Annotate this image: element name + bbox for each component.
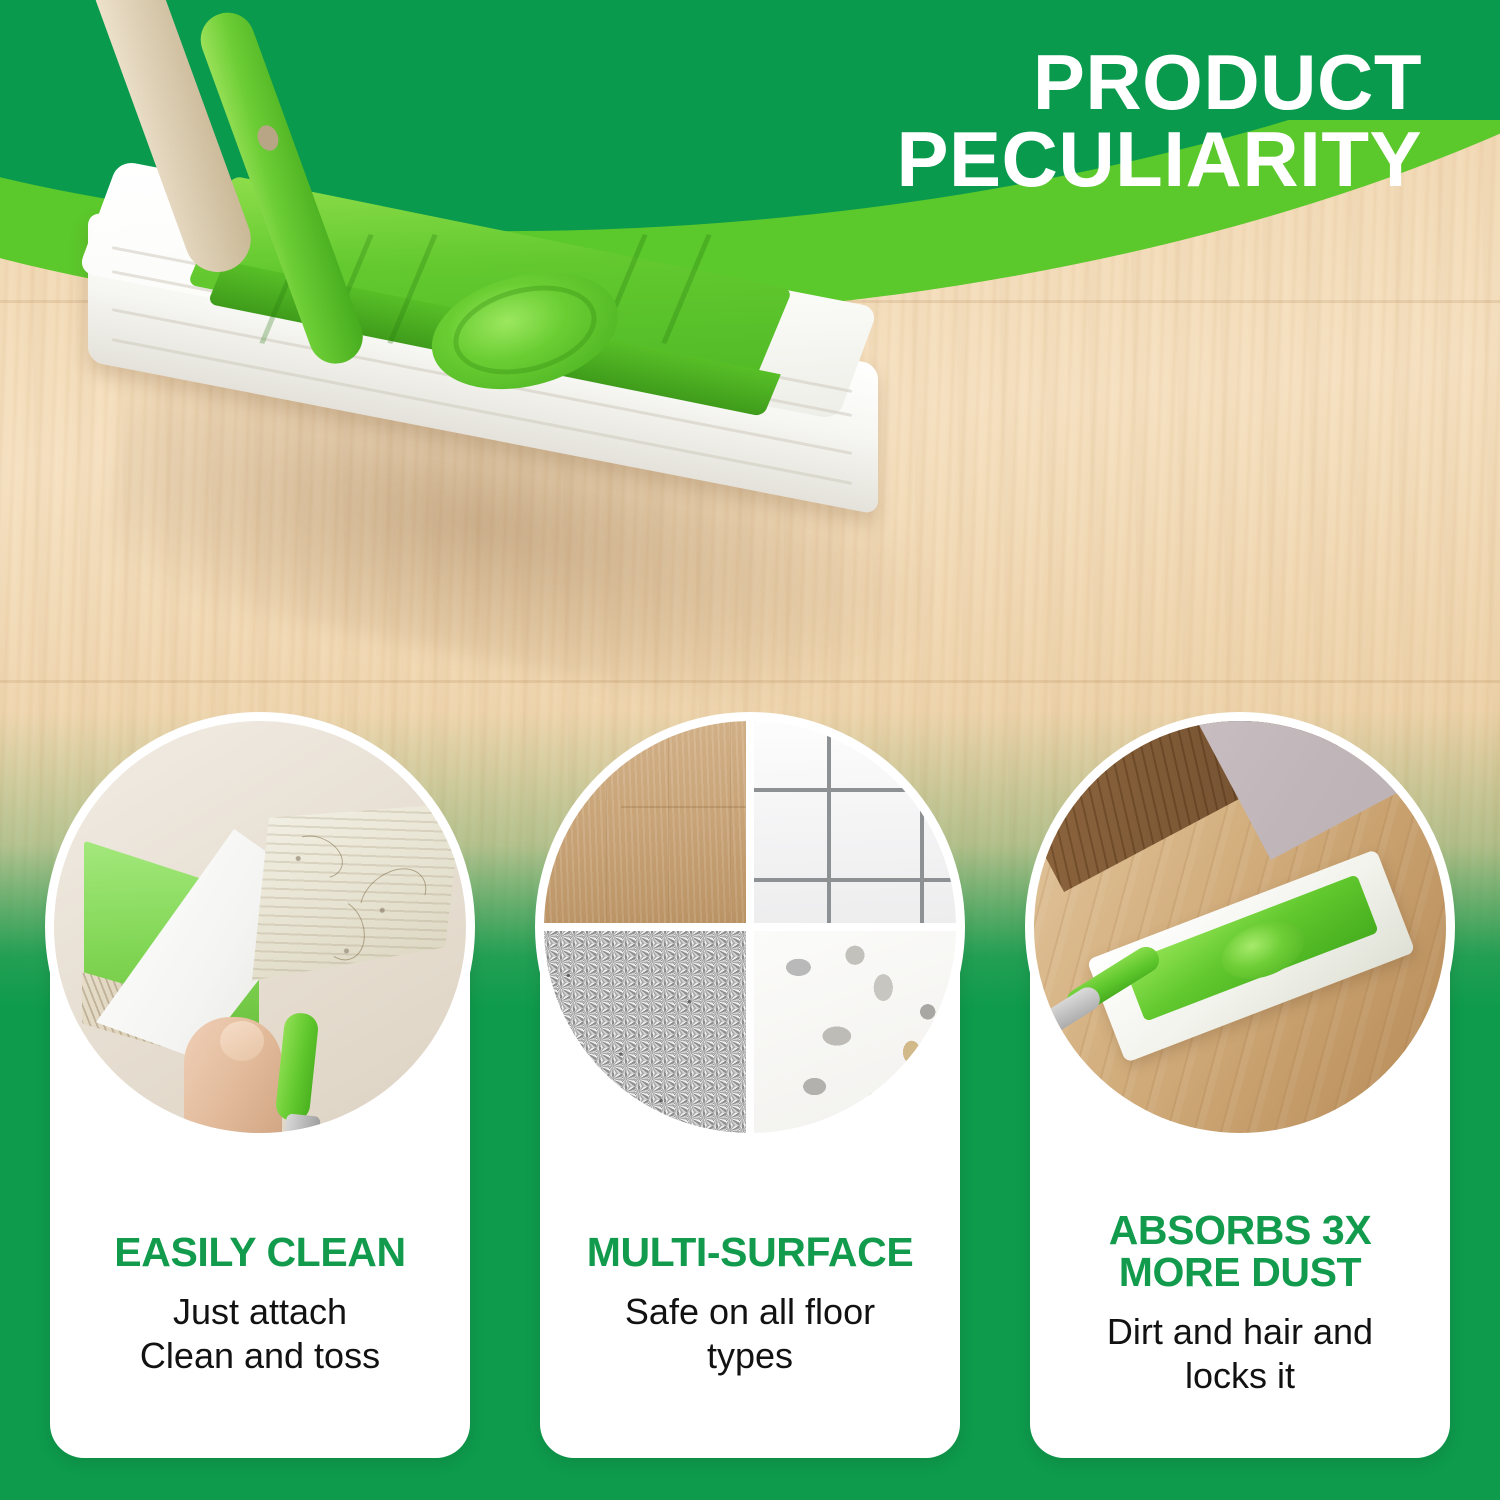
tile-grout-line <box>754 788 956 792</box>
thumb <box>220 1021 264 1061</box>
card-title: MULTI-SURFACE <box>554 1232 946 1274</box>
tile-grout-line <box>827 721 831 923</box>
card-text-block: ABSORBS 3X MORE DUST Dirt and hair and l… <box>1030 1210 1450 1397</box>
tile-grout-line <box>754 878 956 882</box>
card-subtitle: Dirt and hair and locks it <box>1044 1310 1436 1398</box>
card-image-easily-clean <box>45 712 475 1142</box>
card-title: ABSORBS 3X MORE DUST <box>1044 1210 1436 1294</box>
card-image-multi-surface <box>535 712 965 1142</box>
circle-photo <box>1034 721 1446 1133</box>
circle-photo <box>544 721 956 1133</box>
card-text-block: EASILY CLEAN Just attach Clean and toss <box>50 1232 470 1378</box>
hair-strand <box>282 827 349 886</box>
surface-quadrant-wood <box>544 721 746 923</box>
mop-handle-metal-ferrule <box>283 1113 321 1133</box>
surface-quadrant-marble-tile <box>754 721 956 923</box>
card-title: EASILY CLEAN <box>64 1232 456 1274</box>
infographic-canvas: PRODUCT PECULIARITY EASILY CLEAN Just at… <box>0 0 1500 1500</box>
card-text-block: MULTI-SURFACE Safe on all floor types <box>540 1232 960 1378</box>
feature-cards-row: EASILY CLEAN Just attach Clean and toss … <box>0 0 1500 1500</box>
card-subtitle: Safe on all floor types <box>554 1290 946 1378</box>
card-subtitle: Just attach Clean and toss <box>64 1290 456 1378</box>
tile-grout-line <box>920 745 924 923</box>
card-image-absorbs-more-dust <box>1025 712 1455 1142</box>
circle-photo <box>54 721 466 1133</box>
